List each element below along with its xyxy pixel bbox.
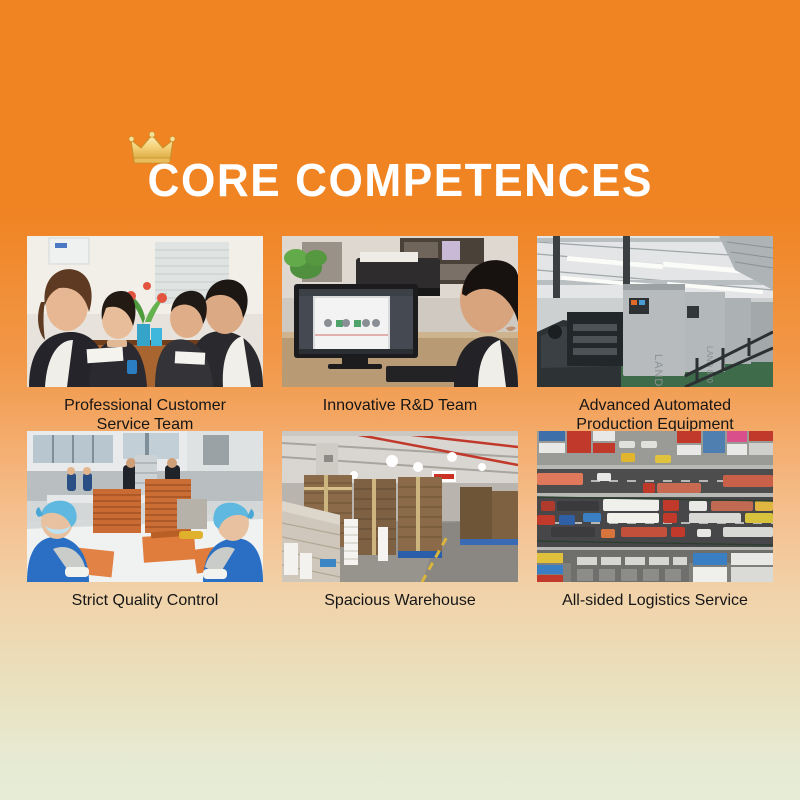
card-image-logistics-aerial[interactable]: [537, 431, 773, 582]
caption-line-1: All-sided Logistics Service: [562, 592, 748, 609]
title-wrapper: CORE COMPETENCES: [137, 152, 664, 208]
card-all-sided-logistics-service[interactable]: All-sided Logistics Service: [537, 431, 773, 612]
caption-line-1: Professional Customer: [64, 397, 226, 414]
page-title: CORE COMPETENCES: [147, 152, 652, 208]
page-header: CORE COMPETENCES: [0, 152, 800, 208]
card-spacious-warehouse[interactable]: Spacious Warehouse: [282, 431, 518, 612]
card-image-meeting-room[interactable]: [27, 236, 263, 387]
card-strict-quality-control[interactable]: Strict Quality Control: [27, 431, 263, 612]
card-caption: Strict Quality Control: [27, 582, 263, 612]
caption-line-1: Spacious Warehouse: [324, 592, 476, 609]
card-image-rd-workstation[interactable]: [282, 236, 518, 387]
card-advanced-automated-production-equipment[interactable]: LAND 800 LAND 800: [537, 236, 773, 431]
svg-text:LAND 800: LAND 800: [652, 354, 664, 387]
card-image-quality-control[interactable]: [27, 431, 263, 582]
card-caption: All-sided Logistics Service: [537, 582, 773, 612]
card-caption: Spacious Warehouse: [282, 582, 518, 612]
card-caption: Innovative R&D Team: [282, 387, 518, 431]
caption-line-1: Innovative R&D Team: [323, 397, 477, 414]
card-caption: Professional Customer Service Team: [27, 387, 263, 431]
card-professional-customer-service-team[interactable]: Professional Customer Service Team: [27, 236, 263, 431]
card-innovative-rd-team[interactable]: Innovative R&D Team: [282, 236, 518, 431]
card-image-printing-press[interactable]: LAND 800 LAND 800: [537, 236, 773, 387]
caption-line-1: Strict Quality Control: [72, 592, 219, 609]
card-caption: Advanced Automated Production Equipment: [537, 387, 773, 431]
competence-grid: Professional Customer Service Team: [27, 236, 773, 612]
caption-line-1: Advanced Automated: [579, 397, 731, 414]
card-image-warehouse[interactable]: [282, 431, 518, 582]
